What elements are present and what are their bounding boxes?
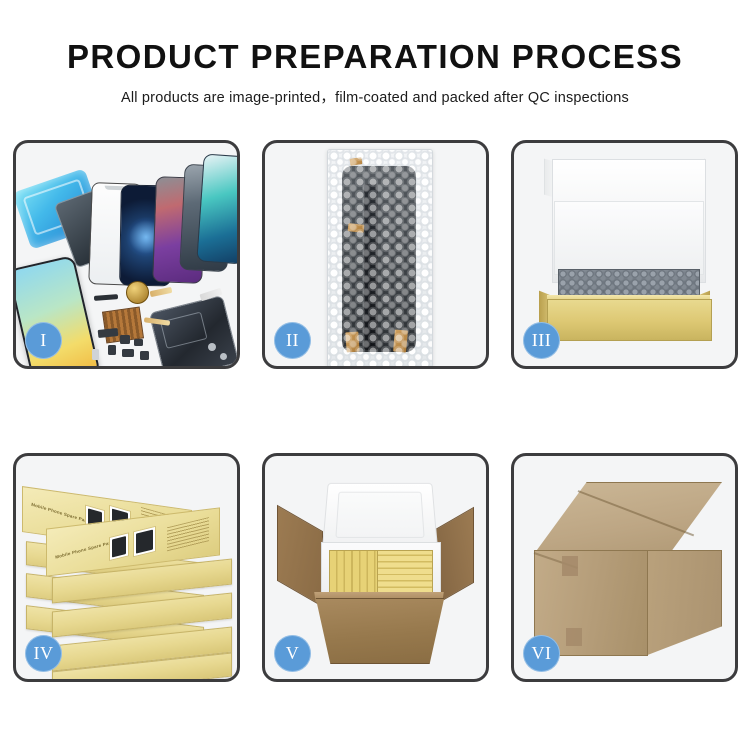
carton-front-icon xyxy=(307,598,453,664)
process-step-2: II xyxy=(262,140,489,369)
bubble-texture-overlay xyxy=(328,150,432,366)
step-1-badge: I xyxy=(25,322,62,359)
process-step-1: I xyxy=(13,140,240,369)
box-label-image xyxy=(133,526,156,558)
page-subtitle: All products are image-printed，film-coat… xyxy=(0,75,750,107)
process-step-4: Mobile Phone Spare Parts Mobile Phone Sp… xyxy=(13,453,240,682)
small-part-icon xyxy=(92,349,99,360)
screw-icon xyxy=(220,353,227,360)
speaker-coil-icon xyxy=(126,281,149,304)
product-preparation-infographic: PRODUCT PREPARATION PROCESS All products… xyxy=(0,0,750,750)
step-6-badge: VI xyxy=(523,635,560,672)
white-foam-sheet-icon xyxy=(554,201,704,275)
process-step-6: VI xyxy=(511,453,738,682)
header: PRODUCT PREPARATION PROCESS All products… xyxy=(0,0,750,107)
connector-chip-icon xyxy=(108,345,116,355)
kraft-box-front-icon xyxy=(547,299,712,341)
connector-chip-icon xyxy=(120,335,130,344)
process-step-5: V xyxy=(262,453,489,682)
box-label-text: Mobile Phone Spare Parts xyxy=(31,502,91,525)
connector-chip-icon xyxy=(122,349,134,357)
step-4-badge: IV xyxy=(25,635,62,672)
foam-cooler-lid-icon xyxy=(322,483,438,549)
process-step-grid: I II xyxy=(13,140,737,686)
carton-top-icon xyxy=(534,482,722,554)
connector-chip-icon xyxy=(134,339,143,346)
step-2-badge: II xyxy=(274,322,311,359)
carton-flap-left-icon xyxy=(277,505,323,608)
screw-icon xyxy=(208,343,216,351)
inner-yellow-boxes-icon xyxy=(377,550,433,594)
box-label-image xyxy=(109,532,129,561)
page-title: PRODUCT PREPARATION PROCESS xyxy=(0,0,750,75)
box-label-lines xyxy=(167,517,209,551)
carton-tape-lower-icon xyxy=(566,628,582,646)
step-5-badge: V xyxy=(274,635,311,672)
flex-cable-icon xyxy=(150,287,173,297)
carton-tape-upper-icon xyxy=(562,556,578,576)
bubble-wrap-bag-icon xyxy=(327,149,433,366)
connector-chip-icon xyxy=(140,351,149,360)
box-label-text: Mobile Phone Spare Parts xyxy=(55,539,115,560)
phone-teal-screen-icon xyxy=(196,153,237,264)
step-3-badge: III xyxy=(523,322,560,359)
carton-side-icon xyxy=(645,550,722,656)
battery-strip-icon xyxy=(94,294,118,301)
process-step-3: III xyxy=(511,140,738,369)
